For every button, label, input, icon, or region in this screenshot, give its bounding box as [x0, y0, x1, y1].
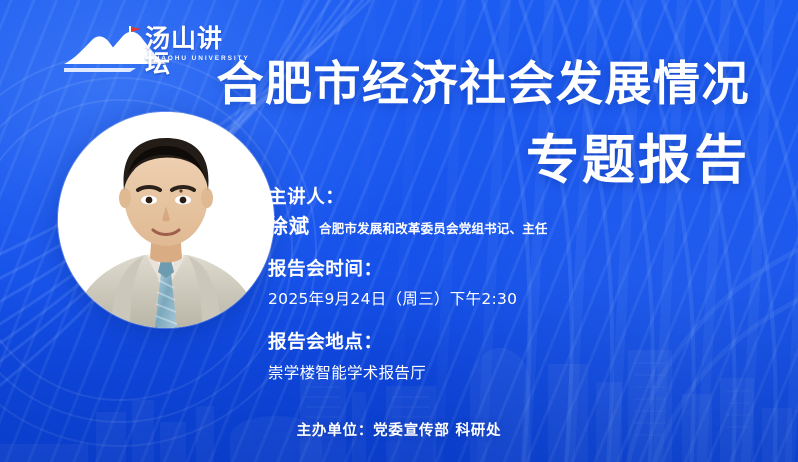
page-title-line-1: 合肥市经济社会发展情况 — [217, 61, 751, 108]
page-title-line-2: 专题报告 — [526, 134, 750, 187]
speaker-portrait — [58, 112, 274, 328]
speaker-name: 徐斌 — [268, 216, 310, 236]
place-label: 报告会地点： — [268, 331, 598, 354]
speaker-title: 合肥市发展和改革委员会党组书记、主任 — [319, 223, 548, 236]
speaker-label: 主讲人： — [268, 186, 598, 209]
organizer-footer: 主办单位：党委宣传部 科研处 — [0, 419, 798, 440]
event-poster: 汤山讲坛 CHAOHU UNIVERSITY — [0, 0, 798, 462]
event-details: 主讲人： 徐斌 合肥市发展和改革委员会党组书记、主任 报告会时间： 2025年9… — [268, 186, 598, 383]
time-label: 报告会时间： — [268, 258, 598, 281]
place-value: 崇学楼智能学术报告厅 — [268, 363, 598, 383]
speaker-row: 徐斌 合肥市发展和改革委员会党组书记、主任 — [268, 216, 598, 236]
portrait-illustration — [58, 112, 274, 328]
time-value: 2025年9月24日（周三）下午2:30 — [268, 289, 598, 309]
chaohu-university-logo: 汤山讲坛 CHAOHU UNIVERSITY — [62, 24, 237, 76]
